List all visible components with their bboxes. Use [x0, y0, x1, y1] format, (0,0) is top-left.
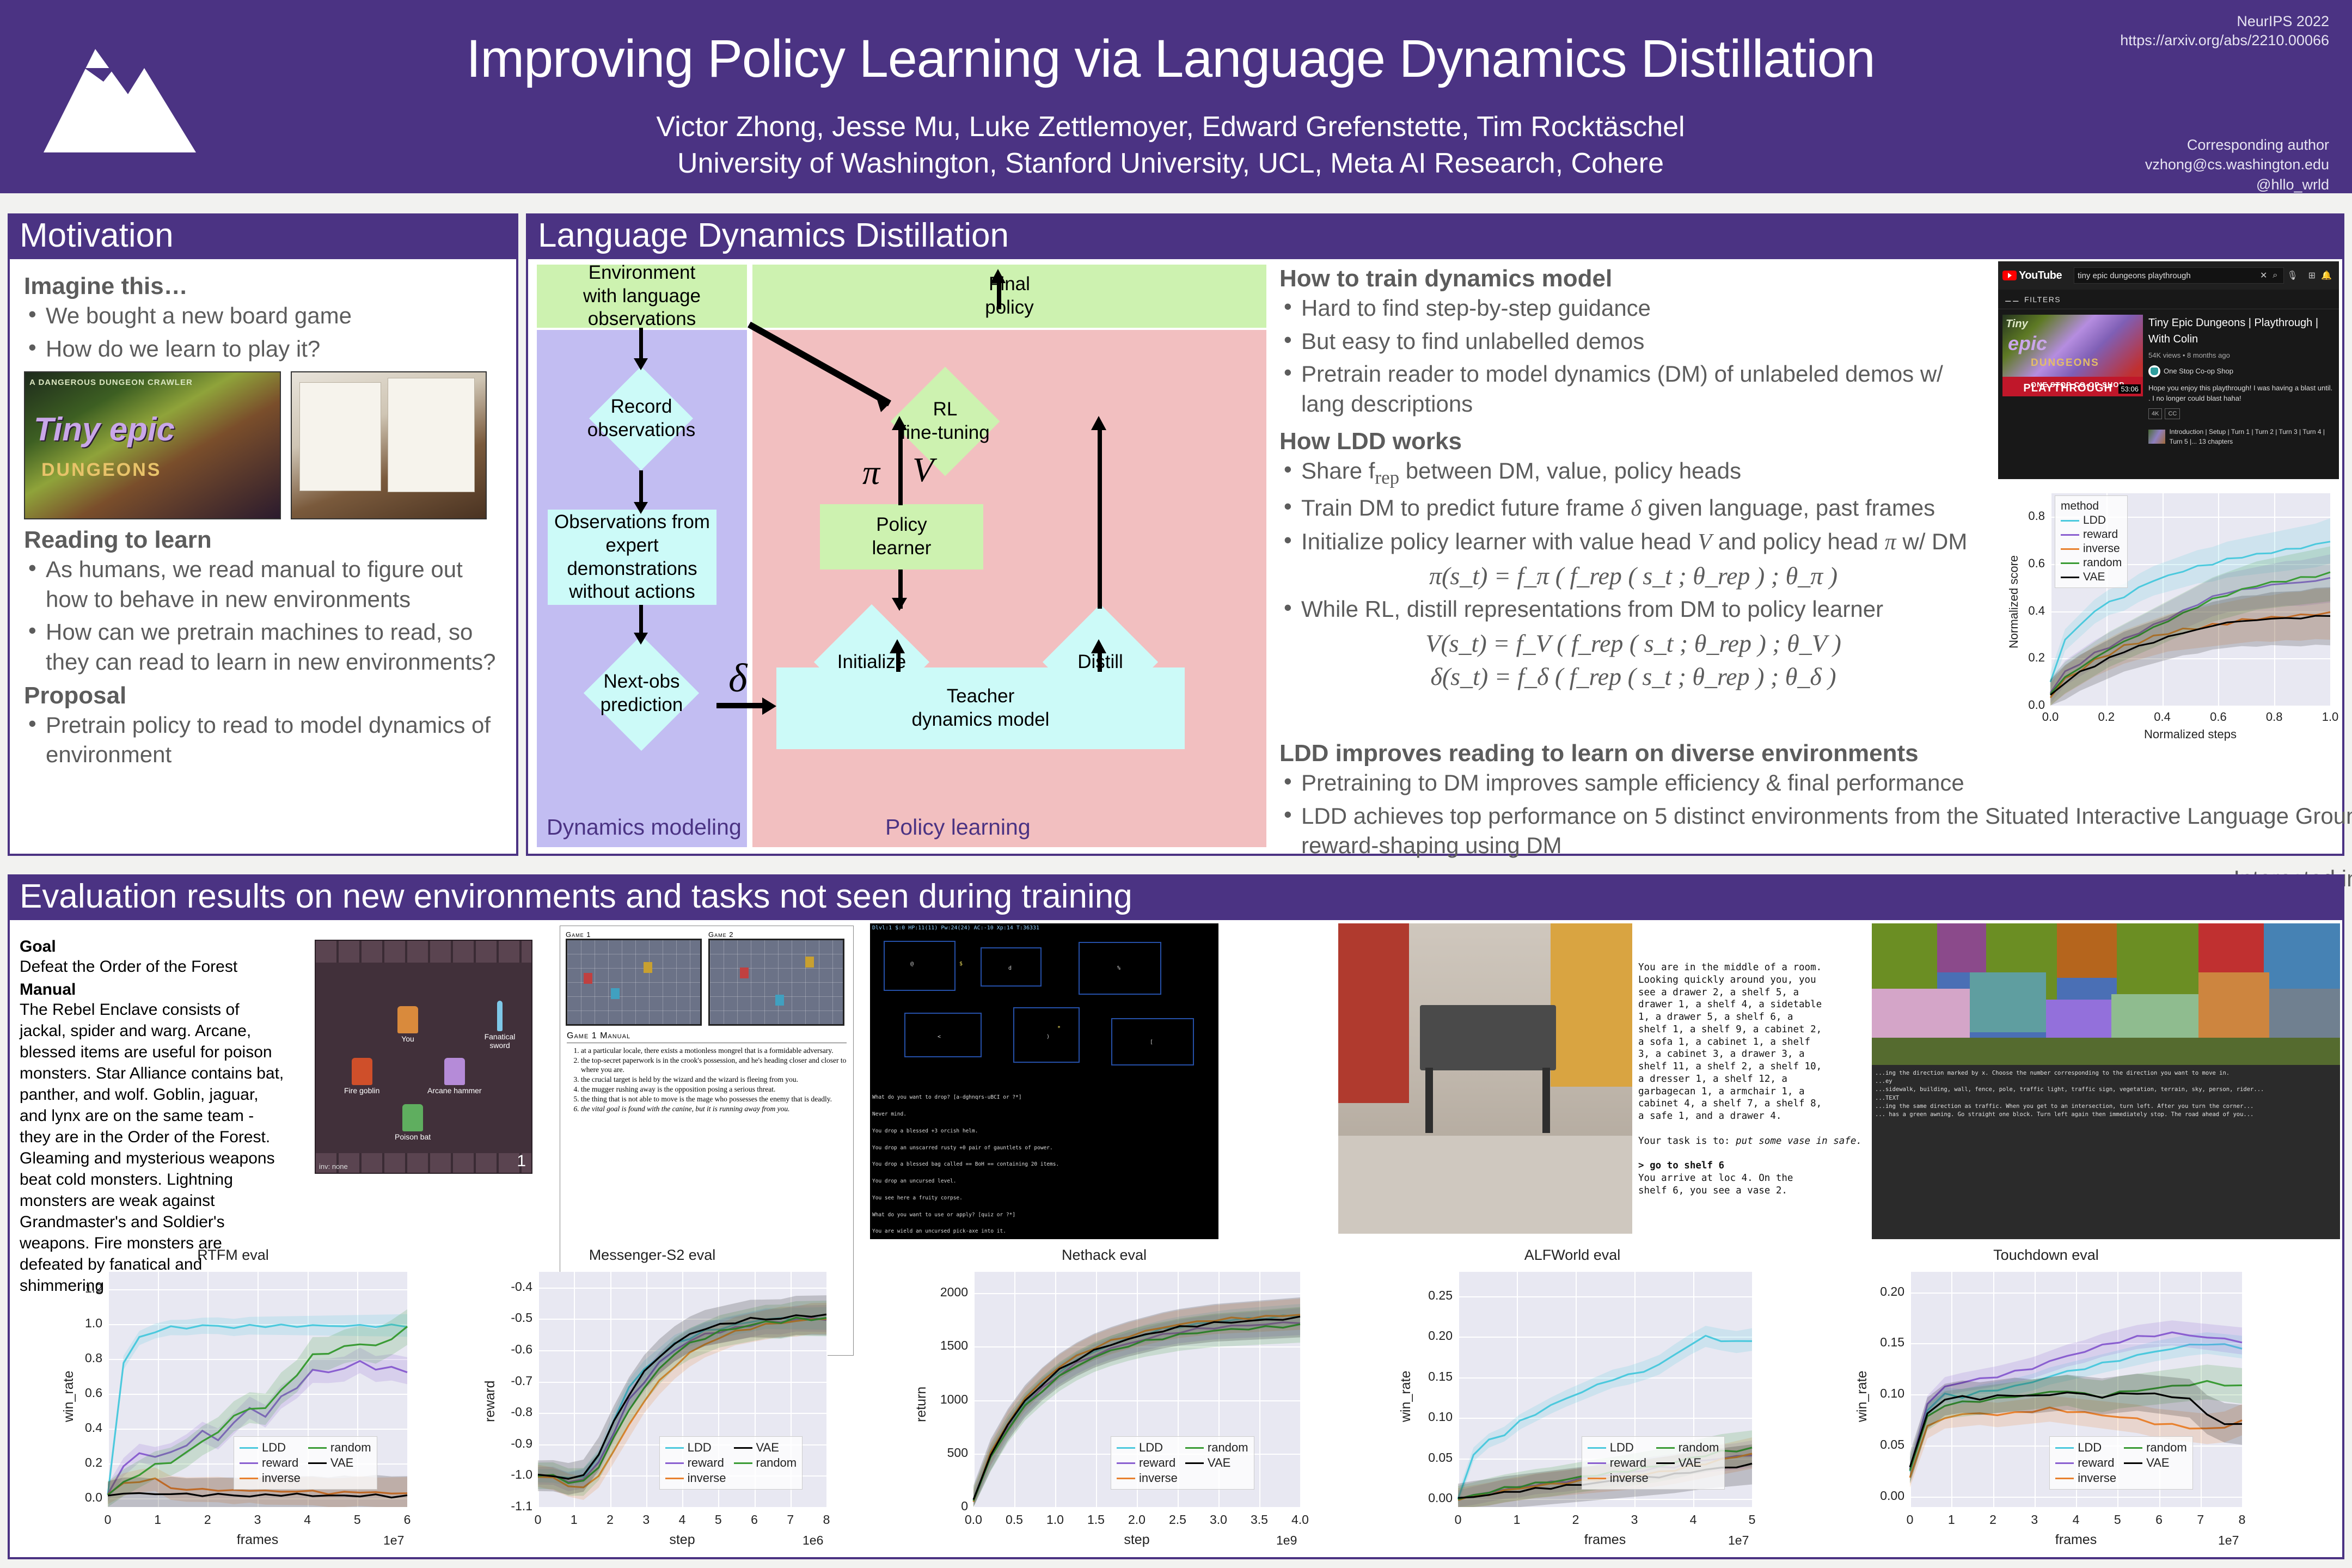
- legend-swatch: [1656, 1462, 1675, 1464]
- legend-swatch: [1117, 1447, 1135, 1449]
- legend-item[interactable]: VAE: [1656, 1456, 1719, 1470]
- legend-swatch: [734, 1462, 752, 1464]
- alfworld-task-prefix: Your task is to:: [1638, 1136, 1736, 1147]
- legend-label: random: [330, 1441, 371, 1455]
- eval-charts-row: RTFM eval0.00.20.40.60.81.01.20123456win…: [10, 1247, 2347, 1559]
- nethack-log: What do you want to drop? [a-dghnqrs-uBC…: [872, 1084, 1216, 1239]
- legend-title: method: [2061, 500, 2122, 513]
- list-item: Pretrain reader to model dynamics (DM) o…: [1279, 359, 1987, 419]
- pi-symbol: π: [862, 452, 880, 493]
- legend-swatch: [308, 1462, 327, 1464]
- x-axis-label: step: [538, 1532, 826, 1548]
- legend-swatch: [240, 1462, 258, 1464]
- equation-pi: π(s_t) = f_π ( f_rep ( s_t ; θ_rep ) ; θ…: [1279, 561, 1987, 590]
- distill-label: Distill: [1077, 651, 1123, 674]
- badge-cc: CC: [2165, 408, 2180, 420]
- next-obs-prediction-label: Next-obs prediction: [601, 670, 683, 716]
- arrow-env-to-rl: [744, 322, 918, 425]
- game2-caption: Game 2: [708, 930, 844, 939]
- box-subtitle-text: DUNGEONS: [41, 460, 161, 481]
- train-dm-heading: How to train dynamics model: [1279, 264, 1987, 293]
- legend-item[interactable]: LDD: [2055, 1441, 2116, 1455]
- svg-text:): ): [1046, 1034, 1050, 1040]
- policy-learner-label: Policy learner: [872, 513, 932, 560]
- y-axis-label: Normalized score: [2007, 555, 2021, 648]
- list-item: Pretraining to DM improves sample effici…: [1279, 768, 2352, 798]
- chapter-thumbnail: [2148, 430, 2165, 444]
- imagine-this-heading: Imagine this…: [24, 271, 503, 301]
- legend-swatch: [2055, 1462, 2074, 1464]
- v-inline: V: [1698, 530, 1712, 555]
- legend-swatch: [2061, 577, 2079, 578]
- video-meta: 54K views • 8 months ago: [2148, 350, 2335, 361]
- legend-item[interactable]: random: [2061, 556, 2122, 569]
- legend-item[interactable]: VAE: [2061, 571, 2122, 584]
- list-item: Initialize policy learner with value hea…: [1279, 527, 1987, 558]
- share-frep-sub: rep: [1375, 467, 1399, 488]
- step-counter: 1: [517, 1152, 526, 1171]
- legend-item[interactable]: LDD: [1588, 1441, 1649, 1455]
- ldd-panel: Language Dynamics Distillation Environme…: [526, 213, 2344, 856]
- y-axis-label: win_rate: [61, 1371, 77, 1423]
- chart-rtfm: RTFM eval0.00.20.40.60.81.01.20123456win…: [42, 1247, 424, 1559]
- legend-swatch: [665, 1478, 684, 1479]
- legend-item[interactable]: random: [2124, 1441, 2187, 1455]
- series-layer: [42, 1247, 424, 1559]
- legend-item[interactable]: reward: [240, 1456, 301, 1470]
- search-icon[interactable]: ⌕: [2273, 271, 2277, 280]
- x-axis-exponent: 1e7: [383, 1533, 404, 1548]
- chart-messenger: Messenger-S2 eval-0.4-0.5-0.6-0.7-0.8-0.…: [462, 1247, 843, 1559]
- motivation-heading: Motivation: [10, 216, 516, 259]
- series-layer: [1998, 488, 2339, 749]
- svg-text:[: [: [1150, 1039, 1153, 1045]
- legend-swatch: [1588, 1447, 1606, 1449]
- legend-label: reward: [2078, 1456, 2114, 1470]
- arrowhead-record-to-expert: [634, 502, 648, 514]
- arrow-nextobs-to-teacher: [716, 703, 765, 708]
- legend-label: random: [1208, 1441, 1248, 1455]
- legend-item[interactable]: random: [1656, 1441, 1719, 1455]
- legend-label: random: [2146, 1441, 2187, 1455]
- thumb-playthrough-text: PLAYTHROUGH: [2023, 382, 2112, 395]
- legend-swatch: [2061, 520, 2079, 522]
- arrowhead-rl-final: [990, 269, 1006, 283]
- legend-swatch: [665, 1462, 684, 1464]
- legend-item[interactable]: random: [308, 1441, 371, 1455]
- legend-item[interactable]: LDD: [665, 1441, 726, 1455]
- clear-icon[interactable]: ✕: [2260, 270, 2267, 281]
- corresponding-handle[interactable]: @hllo_wrld: [2145, 175, 2329, 194]
- y-axis-label: win_rate: [1398, 1371, 1414, 1423]
- arrowhead-nextobs-to-teacher: [762, 697, 776, 715]
- list-item: How can we pretrain machines to read, so…: [24, 617, 503, 677]
- legend-label: inverse: [2078, 1471, 2116, 1485]
- series-layer: [892, 1247, 1316, 1559]
- legend-item[interactable]: inverse: [2055, 1471, 2116, 1485]
- legend-label: LDD: [1610, 1441, 1634, 1455]
- legend-label: reward: [1610, 1456, 1646, 1470]
- game1-manual-list: at a particular locale, there exists a m…: [567, 1046, 847, 1113]
- expert-observations-box: Observations from expert demonstrations …: [548, 510, 716, 605]
- v-symbol: V: [912, 450, 934, 490]
- list-item: As humans, we read manual to figure out …: [24, 555, 503, 614]
- chart-legend: methodLDDrewardinverserandomVAE: [2055, 495, 2128, 588]
- chart-legend: LDDrandomrewardVAEinverse: [1111, 1436, 1254, 1490]
- legend-item[interactable]: inverse: [665, 1471, 726, 1485]
- svg-text:<: <: [938, 1034, 941, 1040]
- svg-text:$: $: [959, 961, 963, 967]
- log-line: You drop a blessed +3 orcish helm.: [872, 1129, 1216, 1134]
- list-item: the thing that is not able to move is th…: [581, 1094, 847, 1104]
- youtube-topbar: YouTube tiny epic dungeons playthrough ✕…: [1998, 261, 2339, 290]
- series-layer: [1834, 1247, 2258, 1559]
- chapters-text: Introduction | Setup | Turn 1 | Turn 2 |…: [2169, 427, 2335, 446]
- thumb-text-tiny: Tiny: [2006, 318, 2028, 330]
- arrow-record-to-expert: [639, 470, 643, 506]
- arrowhead-distill-rl: [1091, 416, 1106, 430]
- svg-text:@: @: [910, 961, 914, 967]
- teacher-dynamics-model-box: Teacher dynamics model: [776, 667, 1185, 749]
- env-box: Environment with language observations: [537, 265, 747, 328]
- next-obs-prediction-node: Next-obs prediction: [567, 635, 716, 752]
- train-dm-a: Train DM to predict future frame: [1301, 495, 1631, 520]
- channel-avatar: [2148, 365, 2160, 377]
- corresponding-label: Corresponding author: [2145, 135, 2329, 155]
- series-layer: [462, 1247, 843, 1559]
- x-axis-exponent: 1e6: [803, 1533, 823, 1548]
- log-line: What do you want to use or apply? [quiz …: [872, 1212, 1216, 1218]
- legend-label: reward: [1139, 1456, 1175, 1470]
- normalized-score-chart: 0.00.20.40.60.80.00.20.40.60.81.0Normali…: [1998, 488, 2339, 749]
- arrow-env-to-record: [639, 328, 643, 362]
- game1-caption: Game 1: [566, 930, 702, 939]
- author-list: Victor Zhong, Jesse Mu, Luke Zettlemoyer…: [305, 109, 2036, 145]
- legend-swatch: [1185, 1447, 1204, 1449]
- legend-label: random: [2083, 556, 2122, 569]
- improves-heading: LDD improves reading to learn on diverse…: [1279, 738, 2352, 768]
- init-a: Initialize policy learner with value hea…: [1301, 529, 1698, 554]
- legend-swatch: [2061, 534, 2079, 536]
- corresponding-email[interactable]: vzhong@cs.washington.edu: [2145, 155, 2329, 174]
- legend-label: LDD: [688, 1441, 712, 1455]
- messenger-game1: Game 1: [566, 930, 702, 1026]
- series-layer: [1376, 1247, 1768, 1559]
- list-item: But easy to find unlabelled demos: [1279, 327, 1987, 357]
- train-dm-b: given language, past frames: [1641, 495, 1935, 520]
- share-frep-b: between DM, value, policy heads: [1399, 458, 1741, 483]
- ldd-heading: Language Dynamics Distillation: [528, 216, 2342, 259]
- list-item: While RL, distill representations from D…: [1279, 595, 1987, 624]
- proposal-bullets: Pretrain policy to read to model dynamic…: [24, 710, 503, 770]
- manual-heading: Manual: [20, 981, 286, 999]
- legend-item[interactable]: VAE: [1185, 1456, 1248, 1470]
- video-duration-badge: 53:06: [2118, 384, 2141, 394]
- sprite-poison-bat: Poison bat: [395, 1104, 431, 1141]
- rtfm-task-text: Goal Defeat the Order of the Forest Manu…: [20, 934, 286, 1296]
- legend-swatch: [665, 1447, 684, 1449]
- chart-nethack: Nethack eval05001000150020000.00.51.01.5…: [892, 1247, 1316, 1559]
- touchdown-segmentation-image: ...ing the direction marked by x. Choose…: [1872, 923, 2340, 1239]
- board-game-box-image: A DANGEROUS DUNGEON CRAWLER Tiny epic DU…: [24, 371, 281, 519]
- video-title[interactable]: Tiny Epic Dungeons | Playthrough | With …: [2148, 315, 2335, 347]
- inventory-text: inv: none: [319, 1162, 348, 1171]
- list-item: We bought a new board game: [24, 301, 503, 331]
- legend-label: inverse: [1610, 1471, 1649, 1485]
- reading-bullets: As humans, we read manual to figure out …: [24, 555, 503, 677]
- legend-swatch: [2124, 1462, 2142, 1464]
- legend-item[interactable]: VAE: [308, 1456, 371, 1470]
- legend-swatch: [2061, 548, 2079, 550]
- alfworld-result: You arrive at loc 4. On the shelf 6, you…: [1638, 1173, 1793, 1196]
- legend-label: inverse: [262, 1471, 301, 1485]
- arrowhead-env-to-record: [634, 358, 648, 370]
- legend-swatch: [1117, 1462, 1135, 1464]
- thumb-text-dungeons: DUNGEONS: [2031, 357, 2099, 369]
- legend-swatch: [308, 1447, 327, 1449]
- legend-item[interactable]: inverse: [1588, 1471, 1649, 1485]
- youtube-play-icon: [2002, 271, 2017, 280]
- alfworld-room-photo: [1338, 923, 1632, 1234]
- legend-label: VAE: [2146, 1456, 2169, 1470]
- legend-label: LDD: [262, 1441, 286, 1455]
- log-line: Never mind.: [872, 1112, 1216, 1117]
- video-info: Tiny Epic Dungeons | Playthrough | With …: [2148, 315, 2335, 446]
- video-description: Hope you enjoy this playthrough! I was h…: [2148, 383, 2335, 404]
- legend-label: reward: [262, 1456, 298, 1470]
- rulebook-photo: [291, 371, 487, 519]
- list-item: at a particular locale, there exists a m…: [581, 1046, 847, 1055]
- thumb-text-epic: epic: [2008, 332, 2047, 355]
- corresponding-block: Corresponding author vzhong@cs.washingto…: [2145, 135, 2329, 194]
- evaluation-heading: Evaluation results on new environments a…: [10, 877, 2342, 920]
- chart-legend: LDDrandomrewardVAEinverse: [2049, 1436, 2193, 1490]
- legend-label: random: [1679, 1441, 1719, 1455]
- list-item: Pretrain policy to read to model dynamic…: [24, 710, 503, 770]
- legend-swatch: [1588, 1462, 1606, 1464]
- legend-swatch: [1588, 1478, 1606, 1479]
- list-item: LDD achieves top performance on 5 distin…: [1279, 801, 2352, 861]
- log-line: You are wield an uncursed pick-axe into …: [872, 1229, 1216, 1234]
- box-banner-text: A DANGEROUS DUNGEON CRAWLER: [29, 378, 193, 387]
- y-axis-label: return: [914, 1387, 929, 1422]
- rl-finetuning-label: RL fine-tuning: [901, 398, 989, 444]
- list-item: the vital goal is found with the canine,…: [581, 1104, 847, 1113]
- legend-item[interactable]: reward: [665, 1456, 726, 1470]
- init-b: and policy head: [1712, 529, 1885, 554]
- list-item: How do we learn to play it?: [24, 334, 503, 364]
- ldd-flow-diagram: Environment with language observations F…: [537, 265, 1266, 852]
- svg-text:*: *: [1057, 1025, 1061, 1031]
- legend-item[interactable]: reward: [1117, 1456, 1178, 1470]
- delta-symbol: δ: [728, 656, 747, 702]
- nethack-map: @d% <)[ $*: [872, 932, 1216, 1084]
- proposal-heading: Proposal: [24, 681, 503, 710]
- legend-label: inverse: [2083, 542, 2120, 555]
- legend-label: reward: [688, 1456, 724, 1470]
- log-line: You drop a blessed bag called == BoH == …: [872, 1162, 1216, 1167]
- log-line: You see here a fruity corpse.: [872, 1196, 1216, 1201]
- policy-learner-box: Policy learner: [820, 504, 983, 569]
- game1-manual-heading: Game 1 Manual: [567, 1031, 847, 1043]
- x-axis-label: frames: [1910, 1532, 2242, 1548]
- y-axis-label: reward: [482, 1381, 498, 1422]
- youtube-wordmark: YouTube: [2019, 269, 2062, 282]
- legend-item[interactable]: LDD: [1117, 1441, 1178, 1455]
- legend-swatch: [240, 1478, 258, 1479]
- evaluation-panel: Evaluation results on new environments a…: [8, 874, 2344, 1559]
- list-item: Hard to find step-by-step guidance: [1279, 293, 1987, 323]
- list-item: Train DM to predict future frame δ given…: [1279, 493, 1987, 524]
- bell-icon[interactable]: 🔔: [2321, 270, 2332, 281]
- messenger-game2: Game 2: [708, 930, 844, 1026]
- channel-name[interactable]: One Stop Co-op Shop: [2164, 366, 2233, 377]
- chapters-row[interactable]: Introduction | Setup | Turn 1 | Turn 2 |…: [2148, 427, 2335, 446]
- legend-item[interactable]: reward: [2055, 1456, 2116, 1470]
- how-ldd-works-heading: How LDD works: [1279, 426, 1987, 456]
- youtube-search-box[interactable]: tiny epic dungeons playthrough ✕ ⌕: [2074, 267, 2284, 284]
- log-line: You drop an uncursed level.: [872, 1179, 1216, 1184]
- box-title-text: Tiny epic: [34, 411, 175, 448]
- video-thumbnail[interactable]: Tiny epic DUNGEONS ONE STOP CO-OP SHOP P…: [2002, 315, 2143, 396]
- svg-text:%: %: [1117, 965, 1120, 971]
- venue-name: NeurIPS 2022: [2120, 12, 2329, 31]
- sprite-fire-goblin: Fire goblin: [344, 1058, 379, 1095]
- legend-label: LDD: [1139, 1441, 1163, 1455]
- x-axis-label: frames: [108, 1532, 407, 1548]
- legend-item[interactable]: random: [1185, 1441, 1248, 1455]
- sprite-you: You: [397, 1006, 418, 1043]
- poster-authors: Victor Zhong, Jesse Mu, Luke Zettlemoyer…: [305, 109, 2036, 181]
- legend-item[interactable]: reward: [2061, 528, 2122, 541]
- list-item: Share frep between DM, value, policy hea…: [1279, 456, 1987, 490]
- dynamics-modeling-label: Dynamics modeling: [547, 814, 742, 840]
- svg-text:d: d: [1008, 965, 1012, 971]
- touchdown-text: ...ing the direction marked by x. Choose…: [1875, 1069, 2337, 1119]
- goal-heading: Goal: [20, 938, 286, 956]
- legend-item[interactable]: VAE: [2124, 1456, 2187, 1470]
- legend-item[interactable]: random: [734, 1456, 797, 1470]
- record-observations-label: Record observations: [587, 395, 695, 442]
- final-policy-box: Final policy: [752, 265, 1266, 328]
- legend-swatch: [2124, 1447, 2142, 1449]
- legend-swatch: [2061, 562, 2079, 564]
- log-line: What do you want to drop? [a-dghnqrs-uBC…: [872, 1095, 1216, 1100]
- legend-item[interactable]: inverse: [240, 1471, 301, 1485]
- chart-touchdown: Touchdown eval0.000.050.100.150.20012345…: [1834, 1247, 2258, 1559]
- poster-header: Improving Policy Learning via Language D…: [0, 0, 2352, 193]
- delta-inline: δ: [1631, 496, 1641, 521]
- list-item: the top-secret paperwork is in the crook…: [581, 1056, 847, 1074]
- chart-legend: LDDrandomrewardVAEinverse: [234, 1436, 377, 1490]
- youtube-screenshot: YouTube tiny epic dungeons playthrough ✕…: [1998, 261, 2339, 479]
- legend-item[interactable]: reward: [1588, 1456, 1649, 1470]
- affiliation-list: University of Washington, Stanford Unive…: [305, 145, 2036, 182]
- reading-to-learn-heading: Reading to learn: [24, 525, 503, 555]
- video-badges: 4K CC: [2148, 408, 2335, 420]
- x-axis-label: frames: [1458, 1532, 1752, 1548]
- legend-label: inverse: [688, 1471, 726, 1485]
- venue-block: NeurIPS 2022 https://arxiv.org/abs/2210.…: [2120, 12, 2329, 50]
- expert-observations-label: Observations from expert demonstrations …: [554, 511, 710, 604]
- legend-item[interactable]: VAE: [734, 1441, 797, 1455]
- alfworld-action: > go to shelf 6: [1638, 1160, 1724, 1171]
- legend-label: VAE: [1208, 1456, 1230, 1470]
- env-box-label: Environment with language observations: [583, 261, 701, 331]
- create-video-icon[interactable]: ⊞: [2308, 270, 2316, 281]
- init-c: w/ DM: [1896, 529, 1968, 554]
- goal-text: Defeat the Order of the Forest: [20, 956, 286, 977]
- legend-item[interactable]: LDD: [2061, 514, 2122, 527]
- legend-item[interactable]: LDD: [240, 1441, 301, 1455]
- search-input-value[interactable]: tiny epic dungeons playthrough: [2078, 271, 2257, 280]
- sprite-arcane-hammer: Arcane hammer: [427, 1058, 482, 1095]
- share-frep-a: Share f: [1301, 458, 1375, 483]
- imagine-bullets: We bought a new board game How do we lea…: [24, 301, 503, 364]
- legend-label: random: [756, 1456, 797, 1470]
- motivation-panel: Motivation Imagine this… We bought a new…: [8, 213, 518, 856]
- rtfm-game-screenshot: You Fanatical sword Fire goblin Arcane h…: [315, 940, 532, 1174]
- improves-bullets: Pretraining to DM improves sample effici…: [1279, 768, 2352, 861]
- chart-legend: LDDVAErewardrandominverse: [659, 1436, 803, 1490]
- poster-root: Improving Policy Learning via Language D…: [0, 0, 2352, 1568]
- filters-label: FILTERS: [2024, 295, 2061, 304]
- arrow-distill-to-rl: [1098, 424, 1102, 609]
- legend-label: VAE: [1679, 1456, 1701, 1470]
- x-axis-exponent: 1e7: [1728, 1533, 1749, 1548]
- legend-item[interactable]: inverse: [2061, 542, 2122, 555]
- train-dm-bullets: Hard to find step-by-step guidance But e…: [1279, 293, 1987, 419]
- list-item: the mugger rushing away is the oppositio…: [581, 1085, 847, 1094]
- legend-label: LDD: [2078, 1441, 2102, 1455]
- filter-icon: ⚊⚊: [2005, 295, 2020, 304]
- x-axis-label: step: [973, 1532, 1300, 1548]
- nethack-screenshot: Dlvl:1 $:0 HP:11(11) Pw:24(24) AC:-10 Xp…: [870, 923, 1218, 1239]
- log-line: You drop an unscarred rusty +0 pair of g…: [872, 1146, 1216, 1151]
- legend-swatch: [2055, 1447, 2074, 1449]
- y-axis-label: win_rate: [1854, 1371, 1870, 1423]
- distill-bullet: While RL, distill representations from D…: [1279, 595, 1987, 624]
- legend-label: VAE: [330, 1456, 353, 1470]
- chart-legend: LDDrandomrewardVAEinverse: [1582, 1436, 1725, 1490]
- youtube-result-row[interactable]: Tiny epic DUNGEONS ONE STOP CO-OP SHOP P…: [1998, 309, 2339, 452]
- legend-label: reward: [2083, 528, 2118, 541]
- equation-delta: δ(s_t) = f_δ ( f_rep ( s_t ; θ_rep ) ; θ…: [1279, 662, 1987, 691]
- teacher-dynamics-label: Teacher dynamics model: [912, 685, 1050, 731]
- sprite-fanatical-sword: Fanatical sword: [474, 1001, 526, 1050]
- alfworld-text-console: You are in the middle of a room. Looking…: [1635, 923, 1869, 1234]
- youtube-logo[interactable]: YouTube: [2002, 269, 2062, 282]
- legend-item[interactable]: inverse: [1117, 1471, 1178, 1485]
- list-item: the crucial target is held by the wizard…: [581, 1075, 847, 1084]
- initialize-label: Initialize: [837, 651, 906, 674]
- legend-swatch: [734, 1447, 752, 1449]
- channel-row[interactable]: One Stop Co-op Shop: [2148, 365, 2335, 377]
- arxiv-link[interactable]: https://arxiv.org/abs/2210.00066: [2120, 31, 2329, 50]
- legend-label: inverse: [1139, 1471, 1178, 1485]
- legend-swatch: [2055, 1478, 2074, 1479]
- legend-swatch: [240, 1447, 258, 1449]
- arrowhead-expert-to-nextobs: [634, 633, 648, 645]
- uw-mountain-logo: [33, 30, 278, 155]
- nethack-status: Dlvl:1 $:0 HP:11(11) Pw:24(24) AC:-10 Xp…: [872, 926, 1216, 932]
- chart-alfworld: ALFWorld eval0.000.050.100.150.200.25012…: [1376, 1247, 1768, 1559]
- record-observations-node: Record observations: [569, 367, 713, 470]
- legend-swatch: [1656, 1447, 1675, 1449]
- youtube-filters-row[interactable]: ⚊⚊ FILTERS: [1998, 290, 2339, 309]
- legend-label: VAE: [756, 1441, 779, 1455]
- microphone-icon[interactable]: 🎙: [2287, 270, 2298, 281]
